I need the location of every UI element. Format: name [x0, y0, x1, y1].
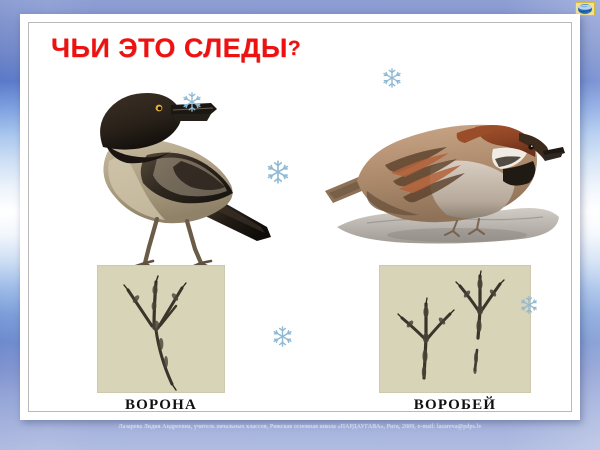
sparrow-track-label: ВОРОБЕЙ [379, 397, 531, 412]
snowflake-icon [381, 67, 403, 94]
snowflake-icon [271, 325, 294, 353]
slide-background: ЧЬИ ЭТО СЛЕДЫ? [0, 0, 600, 450]
sparrow-track-box [379, 265, 531, 393]
crow-image [61, 81, 281, 271]
crow-track-box [97, 265, 225, 393]
sparrow-image [307, 95, 567, 250]
footer-credit: Лазарева Лидия Андреевна, учитель началь… [0, 424, 600, 430]
page-title: ЧЬИ ЭТО СЛЕДЫ? [51, 33, 301, 64]
page-title-text: ЧЬИ ЭТО СЛЕДЫ [51, 33, 288, 63]
slide-card-inner: ЧЬИ ЭТО СЛЕДЫ? [28, 22, 572, 412]
crow-track-label: ВОРОНА [97, 397, 225, 412]
slide-card: ЧЬИ ЭТО СЛЕДЫ? [20, 14, 580, 420]
page-title-question-mark: ? [288, 37, 301, 60]
